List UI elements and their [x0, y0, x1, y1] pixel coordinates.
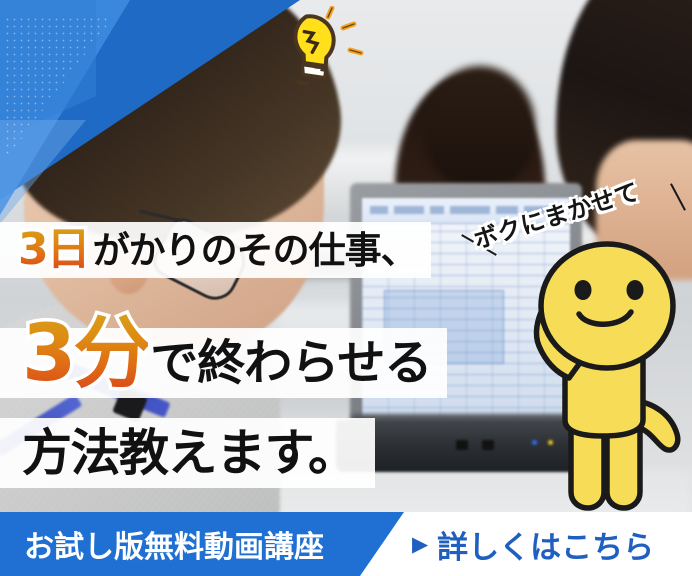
- photo-woman-head: [425, 66, 535, 186]
- headline-line3: 方法教えます。: [22, 428, 357, 478]
- headline-highlight-3days-fill: 3日: [18, 224, 89, 275]
- decorative-blue-corner: [0, 0, 300, 230]
- headline-highlight-3minutes-fill: 3分: [22, 309, 148, 399]
- cta-details-button[interactable]: ▶ 詳しくはこちら: [412, 512, 654, 576]
- advertisement-banner: ボクにまかせて: [0, 0, 692, 576]
- headline-band-1: 3日 3日 がかりのその仕事、: [0, 222, 431, 278]
- cta-offer-label: お試し版無料動画講座: [24, 512, 324, 576]
- lightbulb-icon: [258, 6, 368, 92]
- headline-line1-rest: がかりのその仕事、: [93, 232, 417, 269]
- headline-highlight-3days: 3日 3日: [18, 228, 89, 272]
- headline-band-3: 方法教えます。: [0, 418, 375, 488]
- cta-bar[interactable]: お試し版無料動画講座 ▶ 詳しくはこちら: [0, 512, 692, 576]
- headline-highlight-3minutes: 3分 3分: [22, 315, 148, 393]
- play-triangle-icon: ▶: [412, 534, 428, 555]
- cta-details-label: 詳しくはこちら: [437, 522, 654, 567]
- headline-line2-rest: で終わらせる: [150, 339, 431, 387]
- headline-band-2: 3分 3分 で終わらせる: [0, 328, 447, 398]
- yellow-smiley-mascot: [503, 238, 692, 518]
